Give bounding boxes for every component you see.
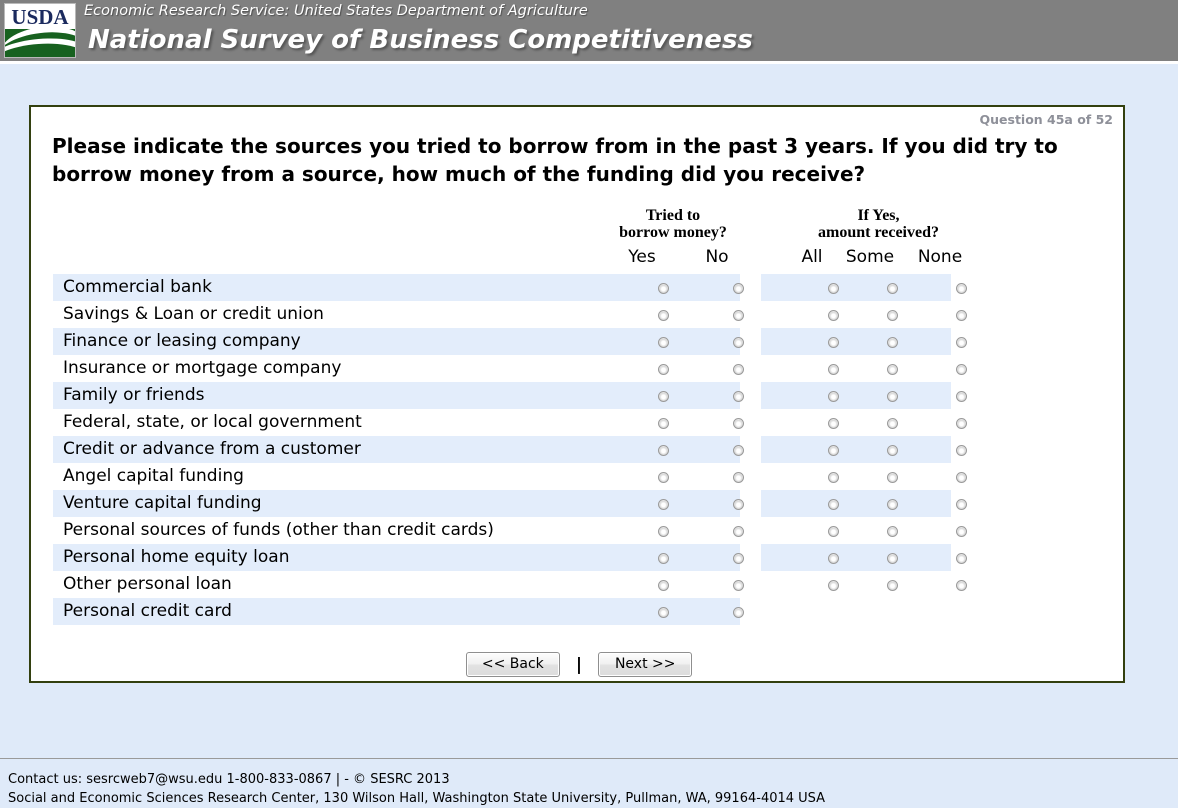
radio-tried-yes[interactable] bbox=[658, 472, 669, 483]
radio-amount-none[interactable] bbox=[956, 283, 967, 294]
radio-tried-yes[interactable] bbox=[658, 445, 669, 456]
radio-amount-some[interactable] bbox=[887, 283, 898, 294]
radio-tried-no[interactable] bbox=[733, 580, 744, 591]
radio-amount-some[interactable] bbox=[887, 526, 898, 537]
row-stripe-right bbox=[761, 436, 951, 463]
table-row: Angel capital funding bbox=[53, 463, 1105, 490]
footer-contact-line: Contact us: sesrcweb7@wsu.edu 1-800-833-… bbox=[8, 770, 825, 789]
radio-tried-no[interactable] bbox=[733, 553, 744, 564]
group-header-amount-received: If Yes, amount received? bbox=[746, 207, 1011, 241]
radio-tried-yes[interactable] bbox=[658, 553, 669, 564]
column-header-yes: Yes bbox=[609, 247, 675, 267]
radio-tried-yes[interactable] bbox=[658, 337, 669, 348]
radio-tried-yes[interactable] bbox=[658, 391, 669, 402]
row-label: Credit or advance from a customer bbox=[63, 436, 361, 463]
usda-logo: USDA bbox=[4, 3, 76, 58]
radio-amount-some[interactable] bbox=[887, 445, 898, 456]
question-counter: Question 45a of 52 bbox=[980, 112, 1114, 127]
row-stripe-right bbox=[761, 571, 951, 598]
site-header: USDA Economic Research Service: United S… bbox=[0, 0, 1178, 64]
row-stripe-right bbox=[761, 490, 951, 517]
question-text: Please indicate the sources you tried to… bbox=[52, 132, 1120, 188]
radio-amount-all[interactable] bbox=[828, 499, 839, 510]
radio-tried-no[interactable] bbox=[733, 418, 744, 429]
back-button[interactable]: << Back bbox=[466, 652, 560, 677]
radio-amount-all[interactable] bbox=[828, 445, 839, 456]
column-header-none: None bbox=[909, 247, 971, 267]
radio-amount-some[interactable] bbox=[887, 391, 898, 402]
radio-amount-all[interactable] bbox=[828, 526, 839, 537]
group-header-line-1: If Yes, bbox=[746, 207, 1011, 224]
radio-tried-no[interactable] bbox=[733, 337, 744, 348]
table-row: Personal home equity loan bbox=[53, 544, 1105, 571]
radio-tried-no[interactable] bbox=[733, 472, 744, 483]
radio-amount-some[interactable] bbox=[887, 553, 898, 564]
row-stripe-right bbox=[761, 517, 951, 544]
radio-amount-none[interactable] bbox=[956, 364, 967, 375]
nav-area: << Back | Next >> bbox=[31, 652, 1127, 677]
response-table: Commercial bankSavings & Loan or credit … bbox=[53, 274, 1105, 625]
radio-tried-no[interactable] bbox=[733, 499, 744, 510]
table-row: Other personal loan bbox=[53, 571, 1105, 598]
radio-amount-none[interactable] bbox=[956, 472, 967, 483]
radio-amount-none[interactable] bbox=[956, 418, 967, 429]
nav-separator: | bbox=[576, 655, 582, 675]
table-row: Savings & Loan or credit union bbox=[53, 301, 1105, 328]
radio-amount-all[interactable] bbox=[828, 472, 839, 483]
table-row: Federal, state, or local government bbox=[53, 409, 1105, 436]
radio-amount-some[interactable] bbox=[887, 337, 898, 348]
radio-tried-no[interactable] bbox=[733, 391, 744, 402]
radio-amount-some[interactable] bbox=[887, 580, 898, 591]
row-label: Insurance or mortgage company bbox=[63, 355, 341, 382]
row-label: Personal credit card bbox=[63, 598, 232, 625]
row-stripe-right bbox=[761, 328, 951, 355]
row-label: Federal, state, or local government bbox=[63, 409, 362, 436]
table-row: Finance or leasing company bbox=[53, 328, 1105, 355]
radio-amount-some[interactable] bbox=[887, 472, 898, 483]
row-label: Other personal loan bbox=[63, 571, 232, 598]
column-header-no: No bbox=[684, 247, 750, 267]
radio-tried-yes[interactable] bbox=[658, 580, 669, 591]
row-label: Family or friends bbox=[63, 382, 204, 409]
radio-amount-none[interactable] bbox=[956, 310, 967, 321]
footer-divider bbox=[0, 758, 1178, 759]
radio-tried-no[interactable] bbox=[733, 310, 744, 321]
row-label: Finance or leasing company bbox=[63, 328, 301, 355]
table-row: Family or friends bbox=[53, 382, 1105, 409]
radio-amount-none[interactable] bbox=[956, 526, 967, 537]
table-row: Credit or advance from a customer bbox=[53, 436, 1105, 463]
column-header-some: Some bbox=[839, 247, 901, 267]
radio-tried-no[interactable] bbox=[733, 364, 744, 375]
radio-amount-some[interactable] bbox=[887, 364, 898, 375]
row-stripe-right bbox=[761, 355, 951, 382]
radio-amount-all[interactable] bbox=[828, 391, 839, 402]
table-row: Personal credit card bbox=[53, 598, 1105, 625]
radio-amount-some[interactable] bbox=[887, 310, 898, 321]
radio-tried-yes[interactable] bbox=[658, 526, 669, 537]
radio-tried-yes[interactable] bbox=[658, 364, 669, 375]
row-stripe-right bbox=[761, 382, 951, 409]
radio-tried-no[interactable] bbox=[733, 607, 744, 618]
usda-logo-wordmark: USDA bbox=[5, 5, 75, 29]
radio-amount-none[interactable] bbox=[956, 499, 967, 510]
row-stripe-right bbox=[761, 409, 951, 436]
radio-amount-none[interactable] bbox=[956, 391, 967, 402]
radio-amount-none[interactable] bbox=[956, 580, 967, 591]
radio-tried-yes[interactable] bbox=[658, 418, 669, 429]
table-row: Commercial bank bbox=[53, 274, 1105, 301]
radio-tried-yes[interactable] bbox=[658, 310, 669, 321]
radio-amount-some[interactable] bbox=[887, 499, 898, 510]
row-label: Angel capital funding bbox=[63, 463, 244, 490]
site-footer: Contact us: sesrcweb7@wsu.edu 1-800-833-… bbox=[8, 770, 825, 808]
radio-tried-no[interactable] bbox=[733, 445, 744, 456]
radio-tried-yes[interactable] bbox=[658, 499, 669, 510]
row-stripe-right bbox=[761, 463, 951, 490]
radio-tried-no[interactable] bbox=[733, 283, 744, 294]
radio-amount-all[interactable] bbox=[828, 310, 839, 321]
radio-tried-no[interactable] bbox=[733, 526, 744, 537]
row-label: Personal sources of funds (other than cr… bbox=[63, 517, 494, 544]
radio-amount-all[interactable] bbox=[828, 283, 839, 294]
row-label: Commercial bank bbox=[63, 274, 212, 301]
group-header-line-2: amount received? bbox=[746, 224, 1011, 241]
column-header-all: All bbox=[781, 247, 843, 267]
agency-line: Economic Research Service: United States… bbox=[84, 3, 588, 19]
radio-amount-all[interactable] bbox=[828, 580, 839, 591]
radio-tried-yes[interactable] bbox=[658, 607, 669, 618]
row-stripe-right bbox=[761, 274, 951, 301]
question-panel: Question 45a of 52 Please indicate the s… bbox=[29, 105, 1125, 683]
radio-amount-none[interactable] bbox=[956, 337, 967, 348]
radio-tried-yes[interactable] bbox=[658, 283, 669, 294]
radio-amount-all[interactable] bbox=[828, 418, 839, 429]
row-label: Personal home equity loan bbox=[63, 544, 289, 571]
table-row: Insurance or mortgage company bbox=[53, 355, 1105, 382]
radio-amount-none[interactable] bbox=[956, 553, 967, 564]
radio-amount-some[interactable] bbox=[887, 418, 898, 429]
radio-amount-all[interactable] bbox=[828, 337, 839, 348]
row-label: Savings & Loan or credit union bbox=[63, 301, 324, 328]
row-label: Venture capital funding bbox=[63, 490, 262, 517]
next-button[interactable]: Next >> bbox=[598, 652, 692, 677]
survey-title: National Survey of Business Competitiven… bbox=[88, 25, 753, 55]
table-row: Personal sources of funds (other than cr… bbox=[53, 517, 1105, 544]
row-stripe-right bbox=[761, 544, 951, 571]
radio-amount-all[interactable] bbox=[828, 364, 839, 375]
row-stripe-right bbox=[761, 301, 951, 328]
radio-amount-all[interactable] bbox=[828, 553, 839, 564]
table-row: Venture capital funding bbox=[53, 490, 1105, 517]
footer-address-line: Social and Economic Sciences Research Ce… bbox=[8, 789, 825, 808]
radio-amount-none[interactable] bbox=[956, 445, 967, 456]
